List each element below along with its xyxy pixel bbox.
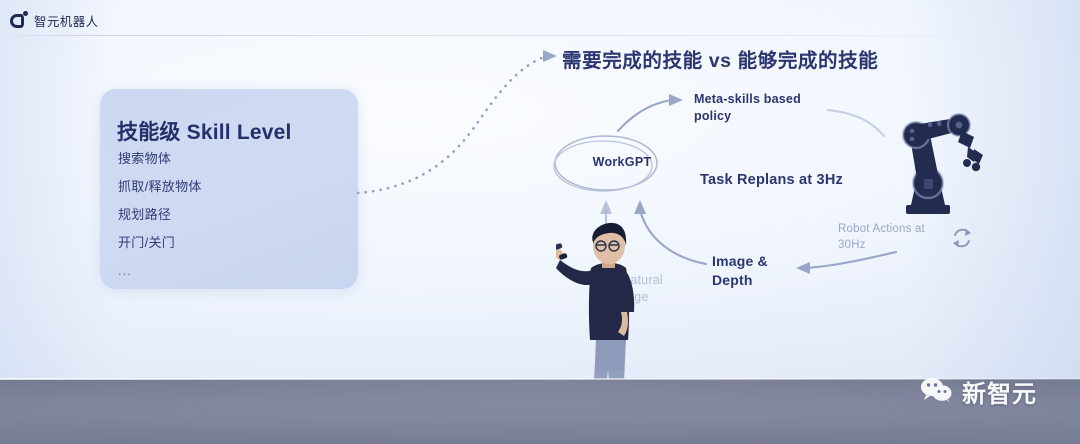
label-image-depth: Image & Depth	[712, 252, 768, 290]
stage-floor-edge	[0, 378, 1080, 380]
arrow-to-meta-skills	[618, 94, 683, 131]
wechat-icon	[920, 377, 954, 406]
label-line: Depth	[712, 271, 768, 290]
robot-arm-icon	[884, 101, 992, 227]
screenshot-root: 智元机器人 技能级 Skill Level 搜索物体 抓取/释放物体 规划路径 …	[0, 0, 1080, 444]
watermark-text: 新智元	[962, 374, 1037, 409]
arrow-robot-to-image	[796, 252, 896, 274]
watermark: 新智元	[920, 374, 1037, 409]
label-meta-skills-policy: Meta-skills based policy	[694, 91, 801, 125]
label-line: Meta-skills based	[694, 91, 801, 108]
refresh-loop-icon	[953, 229, 971, 247]
dotted-arrow-icon	[358, 50, 557, 193]
label-line: policy	[694, 108, 801, 125]
label-task-replans: Task Replans at 3Hz	[700, 172, 843, 188]
arrow-meta-to-robot	[828, 110, 884, 136]
label-line: 30Hz	[838, 237, 925, 253]
label-line: Image &	[712, 252, 768, 271]
workgpt-node-label: WorkGPT	[576, 155, 668, 169]
stage-floor-sheen	[0, 379, 1080, 444]
